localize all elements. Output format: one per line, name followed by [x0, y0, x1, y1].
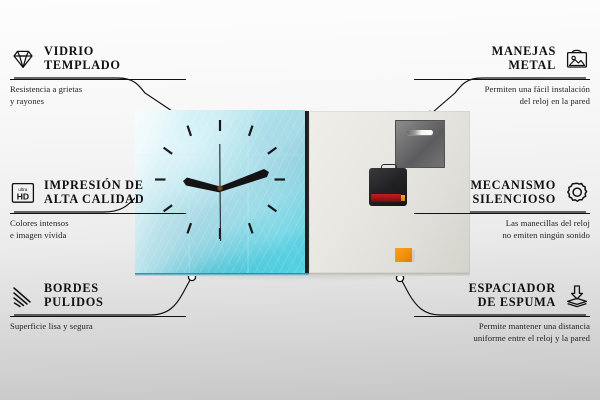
- feature-description: Las manecillas del reloj no emiten ningú…: [414, 217, 590, 241]
- diamond-icon: [10, 46, 36, 72]
- feature-title: BORDES PULIDOS: [44, 282, 104, 310]
- feature-rule: [414, 316, 590, 317]
- feature-rule: [10, 316, 186, 317]
- feature-rule: [10, 79, 186, 80]
- feature-title: IMPRESIÓN DE ALTA CALIDAD: [44, 179, 144, 207]
- battery-terminal: [401, 195, 405, 201]
- feature-header: VIDRIO TEMPLADO: [10, 42, 186, 76]
- clock-minute-hand: [220, 169, 269, 192]
- feature-header: BORDES PULIDOS: [10, 279, 186, 313]
- feature-vidrio-templado: VIDRIO TEMPLADO Resistencia a grietas y …: [10, 42, 186, 107]
- feature-description: Permiten una fácil instalación del reloj…: [414, 83, 590, 107]
- clock-second-hand: [220, 185, 221, 241]
- feature-description: Permite mantener una distancia uniforme …: [414, 320, 590, 344]
- feature-title: MANEJAS METAL: [492, 45, 556, 73]
- back-panel-bottom-edge: [309, 273, 470, 276]
- feature-bordes-pulidos: BORDES PULIDOS Superficie lisa y segura: [10, 279, 186, 332]
- foam-spacer: [395, 248, 412, 262]
- polished-edges-icon: [10, 283, 36, 309]
- feature-title: ESPACIADOR DE ESPUMA: [469, 282, 556, 310]
- clock-panel-bottom-edge: [135, 273, 309, 276]
- feature-rule: [414, 79, 590, 80]
- feature-description: Superficie lisa y segura: [10, 320, 186, 332]
- metal-hanger-plate: [395, 120, 445, 168]
- feature-impresion-alta-calidad: ultra HD IMPRESIÓN DE ALTA CALIDAD Color…: [10, 176, 186, 241]
- gear-icon: [564, 180, 590, 206]
- battery: [371, 194, 401, 202]
- feature-header: MECANISMO SILENCIOSO: [414, 176, 590, 210]
- mechanism-housing: [373, 172, 395, 189]
- feature-title: MECANISMO SILENCIOSO: [470, 179, 556, 207]
- clock-hands: [183, 144, 269, 241]
- feature-description: Colores intensos e imagen vívida: [10, 217, 186, 241]
- hanger-slot: [407, 130, 433, 135]
- clock-center-cap: [217, 185, 222, 190]
- foam-spacer-side: [412, 250, 415, 262]
- feature-header: ultra HD IMPRESIÓN DE ALTA CALIDAD: [10, 176, 186, 210]
- feature-rule: [10, 213, 186, 214]
- feature-description: Resistencia a grietas y rayones: [10, 83, 186, 107]
- feature-header: ESPACIADOR DE ESPUMA: [414, 279, 590, 313]
- mechanism-hanger-tab: [381, 164, 397, 171]
- feature-espaciador-espuma: ESPACIADOR DE ESPUMA Permite mantener un…: [414, 279, 590, 344]
- feature-rule: [414, 213, 590, 214]
- ultra-hd-icon-large-text: HD: [17, 191, 29, 201]
- feature-title: VIDRIO TEMPLADO: [44, 45, 121, 73]
- feature-mecanismo-silencioso: MECANISMO SILENCIOSO Las manecillas del …: [414, 176, 590, 241]
- clock-mechanism: [369, 168, 407, 206]
- feature-header: MANEJAS METAL: [414, 42, 590, 76]
- wall-hanger-icon: [564, 46, 590, 72]
- ultra-hd-icon: ultra HD: [10, 180, 36, 206]
- product-infographic: VIDRIO TEMPLADO Resistencia a grietas y …: [0, 0, 600, 400]
- foam-spacer-icon: [564, 283, 590, 309]
- clock-hour-hand: [183, 178, 220, 193]
- feature-manejas-metal: MANEJAS METAL Permiten una fácil instala…: [414, 42, 590, 107]
